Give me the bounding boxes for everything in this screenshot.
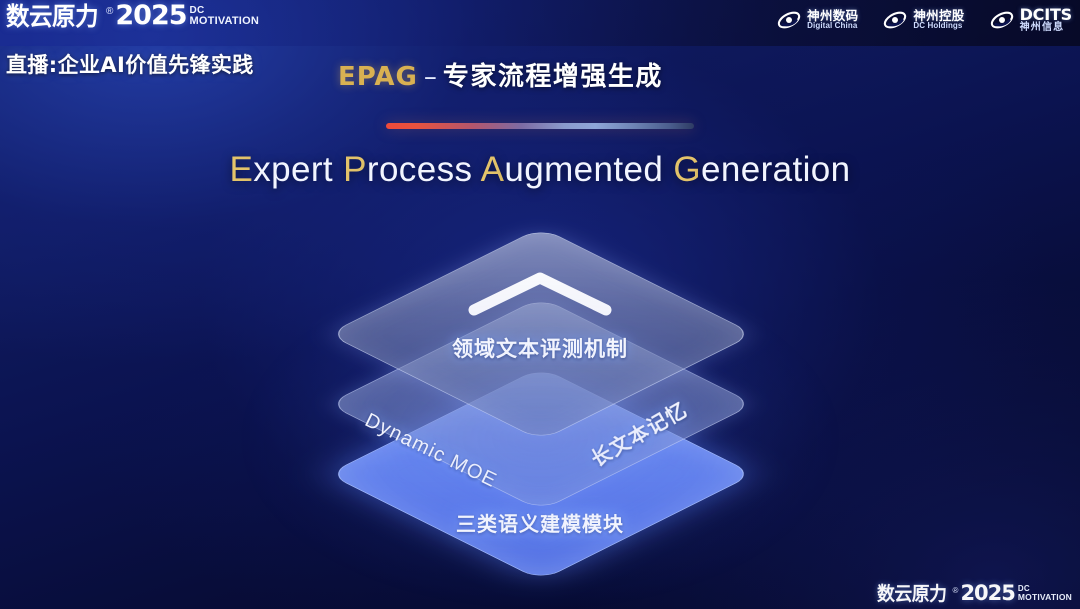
watermark-subtitle: DC MOTIVATION	[1018, 585, 1072, 602]
partner-label-dc-holdings: 神州控股 DC Holdings	[913, 9, 964, 31]
brand-logo: 数云原力 ® 2025 DC MOTIVATION	[6, 2, 259, 29]
brand-logo-registered-mark: ®	[106, 7, 113, 17]
subheading-rest: eneration	[701, 150, 851, 189]
partner-name-en: DC Holdings	[913, 22, 964, 31]
live-stream-title: 直播:企业AI价值先锋实践	[6, 49, 254, 79]
slide-canvas: 数云原力 ® 2025 DC MOTIVATION 直播:企业AI价值先锋实践 …	[0, 0, 1080, 609]
subheading-initial: P	[343, 150, 367, 189]
partner-label-digital-china: 神州数码 Digital China	[807, 9, 858, 31]
brand-logo-subtitle-line2: MOTIVATION	[190, 16, 259, 27]
footer-watermark: 数云原力 ® 2025 DC MOTIVATION	[877, 583, 1072, 604]
swirl-icon	[776, 7, 802, 33]
partner-logo-digital-china: 神州数码 Digital China	[776, 7, 858, 33]
swirl-icon	[989, 7, 1015, 33]
partner-name-cn: 神州数码	[807, 9, 858, 23]
partner-name-cn: 神州控股	[913, 9, 964, 23]
brand-logo-year: 2025	[115, 2, 186, 29]
watermark-subtitle-line2: MOTIVATION	[1018, 593, 1072, 602]
subheading-word-expert: Expert	[229, 150, 333, 189]
partner-label-dcits: DCITS 神州信息	[1020, 6, 1072, 34]
diagram-layer-top[interactable]	[390, 183, 690, 483]
brand-logo-subtitle: DC MOTIVATION	[190, 6, 259, 27]
partner-name-en: Digital China	[807, 22, 858, 31]
partner-name-cn: 神州信息	[1020, 23, 1072, 34]
headline-chinese: 专家流程增强生成	[443, 62, 663, 92]
subheading-word-generation: Generation	[673, 150, 850, 189]
partner-logo-group: 神州数码 Digital China 神州控股 DC Holdings	[776, 6, 1072, 34]
watermark-chinese: 数云原力	[877, 585, 947, 604]
partner-logo-dcits: DCITS 神州信息	[989, 6, 1072, 34]
partner-logo-dc-holdings: 神州控股 DC Holdings	[882, 7, 964, 33]
gradient-divider	[386, 123, 694, 129]
watermark-registered-mark: ®	[953, 587, 959, 595]
slide-headline: EPAG–专家流程增强生成	[338, 56, 663, 93]
watermark-year: 2025	[960, 583, 1014, 604]
subheading-rest: xpert	[253, 150, 333, 189]
swirl-icon	[882, 7, 908, 33]
partner-name-en: DCITS	[1020, 6, 1072, 23]
headline-dash: –	[424, 62, 437, 92]
subheading-initial: E	[229, 150, 253, 189]
headline-acronym: EPAG	[338, 62, 418, 92]
brand-logo-chinese: 数云原力	[6, 4, 98, 29]
